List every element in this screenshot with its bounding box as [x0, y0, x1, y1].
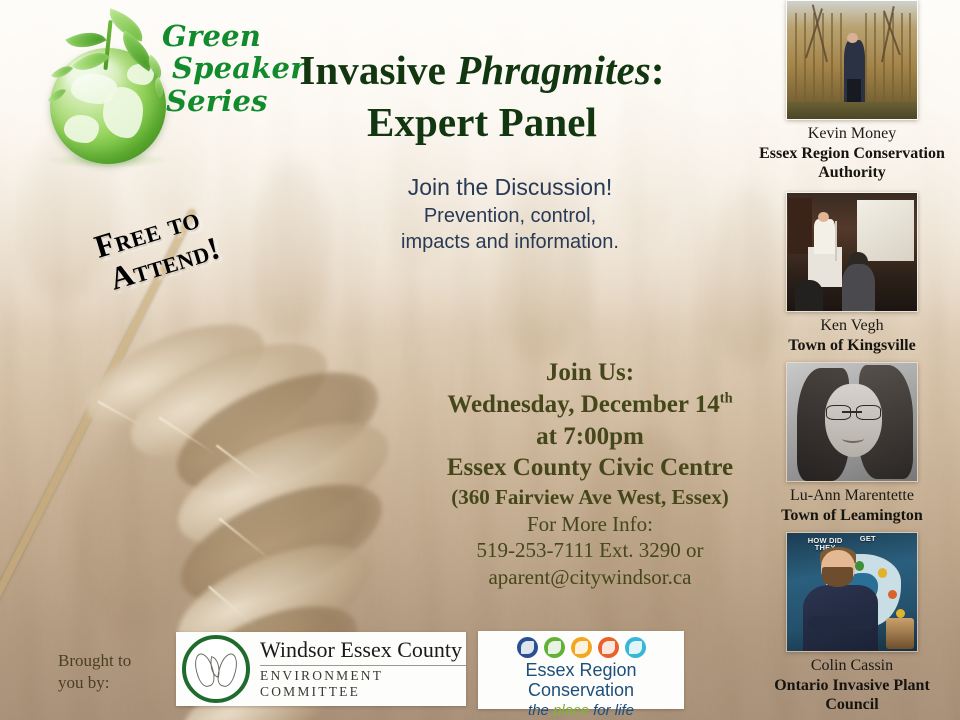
poster-title: Invasive Phragmites: Expert Panel [252, 44, 712, 149]
details-address: (360 Fairview Ave West, Essex) [418, 484, 762, 511]
speaker-org-line-1: Ontario Invasive Plant [744, 676, 960, 695]
photo-audience-shoulders [842, 264, 876, 311]
details-venue: Essex County Civic Centre [418, 452, 762, 484]
speaker-org-line-2: Authority [744, 163, 960, 182]
hands-cradling-leaf-icon [182, 635, 250, 703]
details-join-us: Join Us: [418, 357, 762, 389]
erca-title: Essex Region Conservation [478, 661, 684, 701]
photo-smile [842, 434, 864, 443]
details-date-text: Wednesday, December 14 [447, 391, 719, 418]
map-poster-photo-art: HOW DID THEY GET [787, 533, 917, 651]
essex-region-conservation-logo: Essex Region Conservation the place for … [478, 631, 684, 709]
speaker-photo-person-in-phragmites-reeds [786, 0, 918, 120]
speaker-org-line-1: Town of Leamington [744, 506, 960, 525]
photo-colin-crossed-arms [808, 616, 873, 630]
speaker-card-kevin-money: Kevin Money Essex Region Conservation Au… [744, 0, 960, 182]
poster-subtitle: Join the Discussion! Prevention, control… [330, 172, 690, 256]
title-line-2: Expert Panel [252, 96, 712, 148]
speaker-photo-man-with-map-poster: HOW DID THEY GET [786, 532, 918, 652]
photo-face [825, 384, 882, 457]
title-part-phragmites: Phragmites [456, 47, 651, 93]
erca-icon-blue [517, 637, 538, 658]
speaker-org-line-1: Town of Kingsville [744, 336, 960, 355]
event-details: Join Us: Wednesday, December 14th at 7:0… [418, 357, 762, 591]
portrait-photo-art [787, 363, 917, 481]
title-part-invasive: Invasive [299, 47, 456, 93]
speaker-card-colin-cassin: HOW DID THEY GET Colin Cassin Ontario In… [744, 532, 960, 714]
wecec-subtitle: ENVIRONMENT COMMITTEE [260, 668, 466, 700]
wecec-title: Windsor Essex County [260, 638, 466, 661]
brought-to-you-by-label: Brought to you by: [58, 650, 178, 694]
brought-line-1: Brought to [58, 650, 178, 672]
photo-ground [787, 102, 917, 119]
photo-jars [886, 618, 915, 649]
details-date: Wednesday, December 14th [418, 389, 762, 421]
windsor-essex-county-environment-committee-logo: Windsor Essex County ENVIRONMENT COMMITT… [176, 632, 466, 706]
erca-tagline-post: for life [589, 702, 634, 719]
brought-line-2: you by: [58, 672, 178, 694]
green-speaker-series-logo: Green Speaker Series [44, 2, 274, 172]
photo-audience-second [795, 280, 824, 311]
speaker-card-lu-ann-marentette: Lu-Ann Marentette Town of Leamington [744, 362, 960, 525]
erca-icon-orange [598, 637, 619, 658]
erca-tagline: the place for life [478, 702, 684, 719]
speaker-photo-man-presenting-at-podium [786, 192, 918, 312]
photo-glasses [826, 405, 881, 418]
speaker-name: Lu-Ann Marentette [744, 487, 960, 506]
details-more-info-label: For More Info: [418, 511, 762, 538]
photo-presenter-body [814, 219, 835, 254]
details-date-ordinal: th [720, 390, 733, 406]
wecec-wordmark: Windsor Essex County ENVIRONMENT COMMITT… [260, 638, 466, 699]
speaker-name: Colin Cassin [744, 657, 960, 676]
speaker-name: Kevin Money [744, 125, 960, 144]
details-time: at 7:00pm [418, 421, 762, 453]
erca-icon-green [544, 637, 565, 658]
details-email: aparent@citywindsor.ca [418, 564, 762, 591]
erca-tagline-pre: the [528, 702, 553, 719]
subtitle-line-2: Prevention, control, [330, 203, 690, 230]
photo-microphone-stand [835, 221, 837, 261]
podium-photo-art [787, 193, 917, 311]
erca-icon-row [478, 637, 684, 658]
photo-cabinet [788, 198, 811, 255]
speaker-org-line-2: Council [744, 695, 960, 714]
title-part-colon: : [651, 47, 665, 93]
speaker-name: Ken Vegh [744, 317, 960, 336]
erca-tagline-accent: place [553, 702, 589, 719]
map-caption-get: GET [860, 535, 876, 543]
wecec-divider [260, 665, 466, 666]
speaker-panel-list: Kevin Money Essex Region Conservation Au… [744, 0, 960, 720]
erca-icon-cyan [625, 637, 646, 658]
reed-field-photo-art [787, 1, 917, 119]
details-phone: 519-253-7111 Ext. 3290 or [418, 537, 762, 564]
subtitle-line-1: Join the Discussion! [330, 172, 690, 203]
photo-projection-screen [857, 200, 914, 261]
title-line-1: Invasive Phragmites: [252, 44, 712, 96]
erca-icon-yellow [571, 637, 592, 658]
poster-canvas: Green Speaker Series Invasive Phragmites… [0, 0, 960, 720]
speaker-photo-woman-portrait-black-and-white [786, 362, 918, 482]
subtitle-line-3: impacts and information. [330, 229, 690, 256]
speaker-card-ken-vegh: Ken Vegh Town of Kingsville [744, 192, 960, 355]
speaker-org-line-1: Essex Region Conservation [744, 144, 960, 163]
